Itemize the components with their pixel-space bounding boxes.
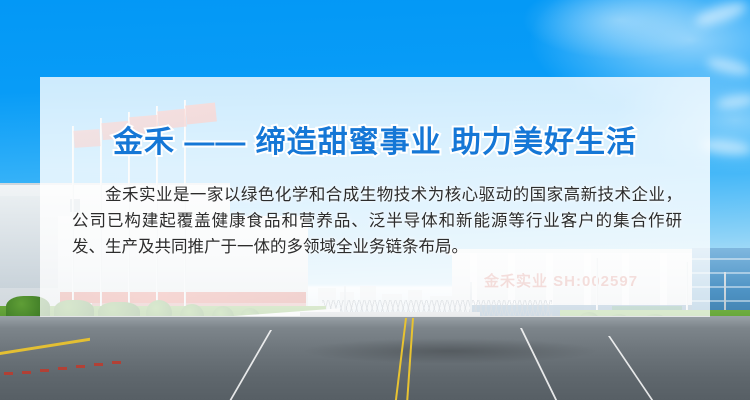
kerb-dash [112, 361, 121, 364]
kerb-dash [4, 372, 13, 375]
kerb-dash [58, 367, 67, 370]
company-intro-banner: 金禾实业 SH:002597 [0, 0, 750, 400]
kerb-dash [40, 369, 49, 372]
road-shadow [300, 338, 600, 364]
kerb-dash [76, 365, 85, 368]
kerb-dash [94, 363, 103, 366]
banner-title: 金禾 —— 缔造甜蜜事业 助力美好生活 [40, 126, 710, 160]
banner-title-text: 金禾 —— 缔造甜蜜事业 助力美好生活 [113, 126, 637, 159]
kerb-dash [22, 371, 31, 374]
company-description: 金禾实业是一家以绿色化学和合成生物技术为核心驱动的国家高新技术企业，公司已构建起… [72, 182, 682, 260]
